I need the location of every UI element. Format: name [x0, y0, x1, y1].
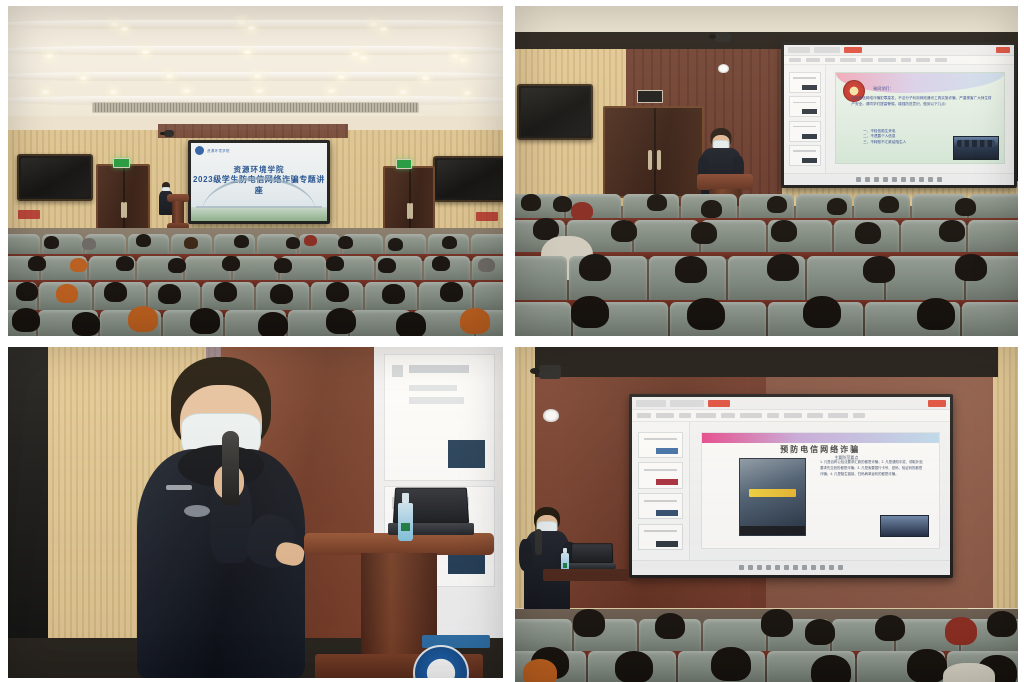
slide-thumbnail — [638, 524, 683, 550]
seat — [634, 220, 699, 254]
slide-thumbnail — [638, 432, 683, 458]
table — [543, 569, 629, 581]
slide-thumbnail — [638, 493, 683, 519]
camera-icon — [164, 130, 174, 137]
police-group-photo — [953, 136, 999, 160]
seat — [471, 234, 503, 256]
microphone — [222, 431, 239, 505]
slide-heading: 致同学们： — [873, 86, 893, 92]
projection-screen: 致同学们： 当前电信网络诈骗犯罪高发，不法分子利用网络通讯工具实施诈骗，严重侵害… — [784, 45, 1014, 185]
slide-stage: 致同学们： 当前电信网络诈骗犯罪高发，不法分子利用网络通讯工具实施诈骗，严重侵害… — [826, 65, 1014, 173]
panel-bottom-left — [8, 347, 503, 678]
ppt-ribbon[interactable] — [784, 56, 1014, 65]
seat — [886, 256, 963, 302]
screen-and-audience-scene: 预防电信网络诈骗 主要防范要点 1. 凡是自称公检法要求汇款的都是诈骗；2. 凡… — [515, 347, 1018, 682]
panel-top-left: 资源环境学院 资源环境学院 2023级学生防电信网络诈骗专题讲座 — [8, 6, 503, 336]
podium — [167, 194, 189, 230]
wall-monitor-left — [517, 84, 593, 140]
auditorium-wide-scene: 资源环境学院 资源环境学院 2023级学生防电信网络诈骗专题讲座 — [8, 6, 503, 336]
speaker-closeup-figure — [136, 357, 306, 677]
ppt-status-bar[interactable] — [784, 173, 1014, 185]
anti-fraud-poster-slide: 预防电信网络诈骗 主要防范要点 1. 凡是自称公检法要求汇款的都是诈骗；2. 凡… — [701, 432, 940, 549]
slide-thumbnail-panel[interactable] — [632, 422, 690, 560]
anti-fraud-poster — [739, 458, 805, 536]
projection-screen-frame: 资源环境学院 资源环境学院 2023级学生防电信网络诈骗专题讲座 — [188, 140, 330, 224]
dome-camera-icon — [718, 64, 729, 73]
title-slide: 资源环境学院 资源环境学院 2023级学生防电信网络诈骗专题讲座 — [191, 143, 327, 221]
wall-monitor-right — [433, 156, 503, 202]
slide-body: 当前电信网络诈骗犯罪高发，不法分子利用网络通讯工具实施诈骗，严重侵害广大师生财产… — [851, 96, 994, 107]
slide-thumbnail — [789, 72, 821, 93]
projection-screen: 资源环境学院 资源环境学院 2023级学生防电信网络诈骗专题讲座 — [191, 143, 327, 221]
slide-wave-decor — [702, 433, 939, 443]
slide-title: 预防电信网络诈骗 — [702, 444, 939, 455]
slide-brand-text: 资源环境学院 — [207, 148, 230, 153]
presentation-window: 致同学们： 当前电信网络诈骗犯罪高发，不法分子利用网络通讯工具实施诈骗，严重侵害… — [784, 45, 1014, 185]
slide-thumbnail — [638, 462, 683, 488]
slide-thumbnail — [789, 145, 821, 166]
projection-screen-frame: 预防电信网络诈骗 主要防范要点 1. 凡是自称公检法要求汇款的都是诈骗；2. 凡… — [629, 394, 953, 578]
camera-icon — [715, 32, 731, 42]
slide-thumbnail — [789, 96, 821, 117]
police-badge-icon — [184, 505, 210, 517]
wall-monitor-left — [17, 154, 93, 201]
exit-sign-left — [113, 158, 130, 168]
panel-bottom-right: 预防电信网络诈骗 主要防范要点 1. 凡是自称公检法要求汇款的都是诈骗；2. 凡… — [515, 347, 1018, 682]
water-bottle — [398, 503, 413, 541]
ppt-ribbon[interactable] — [632, 410, 950, 422]
slide-list-item: 三、不转账不汇款给陌生人 — [863, 140, 906, 145]
room-name-plate — [637, 90, 663, 103]
exit-sign-right — [396, 159, 412, 169]
slide-thumbnail — [384, 354, 495, 482]
ppt-title-bar — [632, 397, 950, 410]
door[interactable] — [603, 106, 704, 198]
anti-fraud-slide: 致同学们： 当前电信网络诈骗犯罪高发，不法分子利用网络通讯工具实施诈骗，严重侵害… — [835, 72, 1005, 164]
laptop[interactable] — [571, 543, 613, 569]
seat — [969, 194, 1018, 220]
wall-banner-right — [476, 212, 498, 221]
dome-camera-icon — [543, 409, 559, 422]
poster-label — [749, 489, 795, 497]
university-logo-icon — [195, 146, 204, 155]
ceiling — [8, 6, 503, 131]
seat — [962, 302, 1018, 336]
seat — [515, 302, 571, 336]
speaker-closeup-scene — [8, 347, 503, 678]
slide-thumbnail-panel[interactable] — [784, 65, 826, 173]
police-group-photo — [880, 515, 929, 538]
projection-screen-frame: 致同学们： 当前电信网络诈骗犯罪高发，不法分子利用网络通讯工具实施诈骗，严重侵害… — [781, 42, 1017, 188]
photo-collage: 资源环境学院 资源环境学院 2023级学生防电信网络诈骗专题讲座 — [0, 0, 1024, 682]
microphone — [535, 529, 542, 555]
seat — [968, 220, 1018, 254]
projection-screen: 预防电信网络诈骗 主要防范要点 1. 凡是自称公检法要求汇款的都是诈骗；2. 凡… — [632, 397, 950, 575]
ppt-status-bar[interactable] — [632, 560, 950, 575]
seat — [8, 234, 40, 256]
seat — [515, 256, 567, 302]
wall-banner-left — [18, 210, 40, 219]
seat-row — [8, 282, 503, 312]
podium-speaker-scene: 致同学们： 当前电信网络诈骗犯罪高发，不法分子利用网络通讯工具实施诈骗，严重侵害… — [515, 6, 1018, 336]
podium — [304, 533, 494, 678]
video-controls-bar[interactable] — [740, 526, 804, 535]
slide-stage: 预防电信网络诈骗 主要防范要点 1. 凡是自称公检法要求汇款的都是诈骗；2. 凡… — [690, 422, 950, 560]
camera-icon — [539, 365, 561, 379]
presentation-window: 预防电信网络诈骗 主要防范要点 1. 凡是自称公检法要求汇款的都是诈骗；2. 凡… — [632, 397, 950, 575]
slide-list: 一、不轻信陌生来电 二、不透露个人信息 三、不转账不汇款给陌生人 — [863, 129, 906, 145]
ppt-title-bar — [784, 45, 1014, 56]
slide-body: 1. 凡是自称公检法要求汇款的都是诈骗；2. 凡是通知中奖、领取补贴要求先交钱的… — [820, 460, 924, 478]
panel-top-right: 致同学们： 当前电信网络诈骗犯罪高发，不法分子利用网络通讯工具实施诈骗，严重侵害… — [515, 6, 1018, 336]
slide-brand: 资源环境学院 — [195, 146, 230, 155]
slide-thumbnail — [789, 121, 821, 142]
rank-insignia — [166, 485, 192, 490]
